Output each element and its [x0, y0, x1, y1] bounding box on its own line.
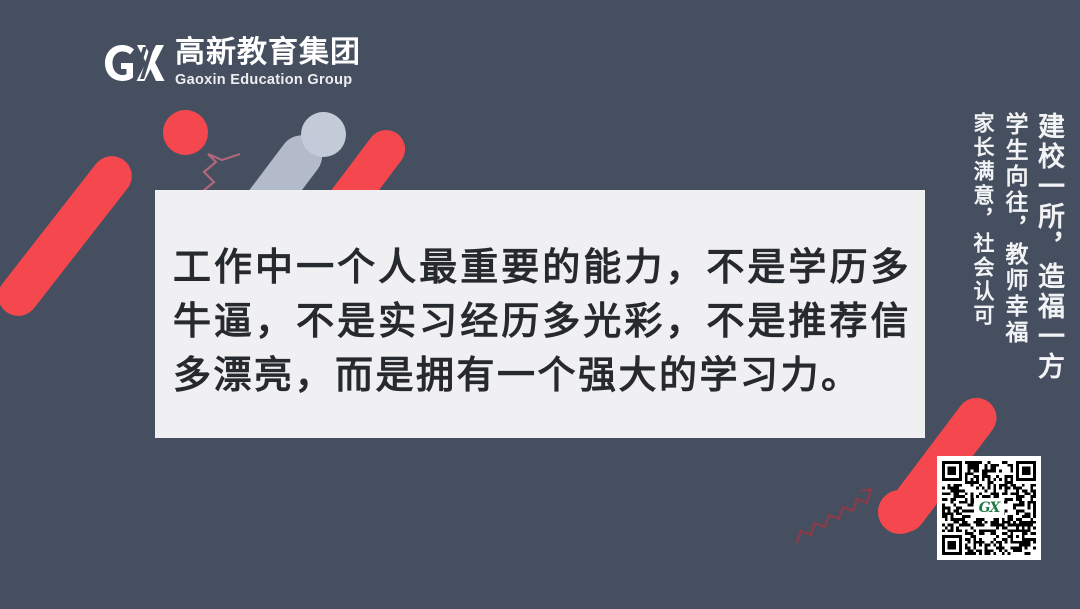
- dot-red-bottom-decoration: [878, 490, 922, 534]
- zigzag-bottom-decoration: [795, 477, 875, 545]
- quote-panel: 工作中一个人最重要的能力，不是学历多牛逼，不是实习经历多光彩，不是推荐信多漂亮，…: [155, 190, 925, 438]
- poster-canvas: 高新教育集团 Gaoxin Education Group 工作中一个人最重要的…: [0, 0, 1080, 609]
- logo-name-en: Gaoxin Education Group: [175, 73, 361, 88]
- dot-red-top-decoration: [163, 110, 208, 155]
- slogan-column-2: 学生向往，教师幸福: [1003, 112, 1026, 346]
- slogan-column-1: 建校一所，造福一方: [1035, 112, 1062, 382]
- slogan-column-3: 家长满意，社会认可: [973, 112, 994, 328]
- quote-text: 工作中一个人最重要的能力，不是学历多牛逼，不是实习经历多光彩，不是推荐信多漂亮，…: [173, 240, 911, 402]
- qr-center-logo: GX: [974, 498, 1004, 518]
- capsule-red-left-decoration: [0, 148, 140, 324]
- qr-code[interactable]: GX: [937, 456, 1041, 560]
- logo-name-cn: 高新教育集团: [175, 38, 361, 68]
- brand-logo: 高新教育集团 Gaoxin Education Group: [100, 38, 361, 88]
- slogan-group: 建校一所，造福一方 学生向往，教师幸福 家长满意，社会认可: [973, 112, 1062, 382]
- gx-monogram-icon: [100, 40, 166, 86]
